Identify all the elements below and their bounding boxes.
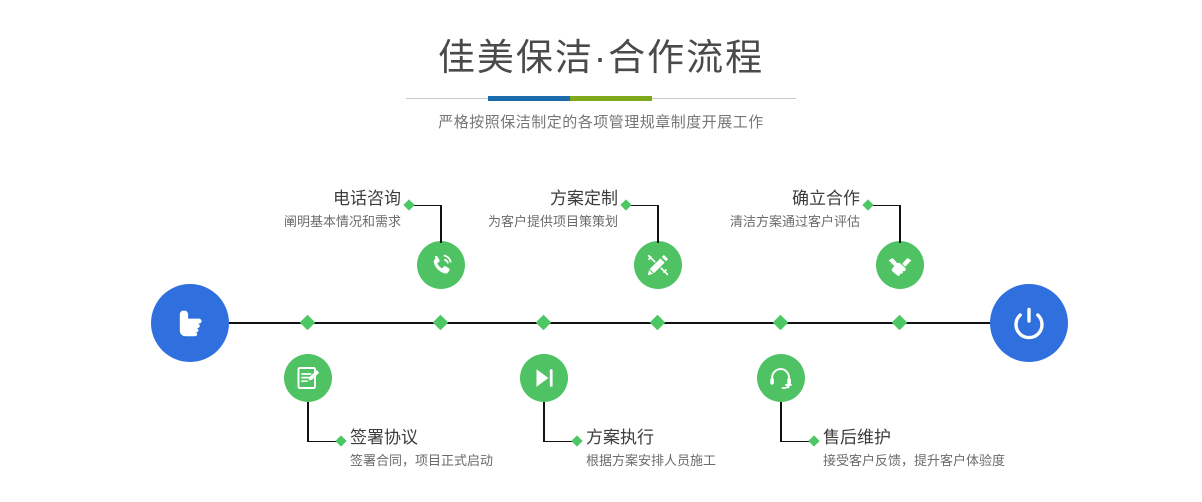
phone-call-icon	[427, 251, 455, 279]
step-label-bottom-1: 签署协议 签署合同，项目正式启动	[350, 427, 610, 470]
connector-vline-bottom-3	[780, 402, 782, 442]
connector-hline-bottom-2	[543, 441, 575, 442]
connector-vline-top-3	[899, 205, 901, 243]
connector-diamond-top-3	[862, 199, 873, 210]
pointing-hand-icon	[169, 302, 211, 344]
page-title: 佳美保洁·合作流程	[0, 36, 1202, 80]
connector-hline-top-3	[871, 205, 900, 206]
timeline-start-node	[151, 284, 229, 362]
step-label-bottom-2: 方案执行 根据方案安排人员施工	[586, 427, 846, 470]
step-label-top-2: 方案定制 为客户提供项目策策划	[422, 188, 618, 231]
play-next-icon	[530, 364, 558, 392]
step-desc: 阐明基本情况和需求	[205, 212, 401, 231]
step-title: 签署协议	[350, 427, 610, 449]
step-icon-headset-add	[757, 354, 805, 402]
divider-segment-green	[570, 96, 652, 101]
connector-vline-bottom-2	[543, 402, 545, 442]
connector-vline-top-2	[657, 205, 659, 243]
step-title: 方案定制	[422, 188, 618, 210]
step-desc: 为客户提供项目策策划	[422, 212, 618, 231]
step-desc: 签署合同，项目正式启动	[350, 451, 610, 470]
title-divider	[406, 98, 796, 99]
axis-diamond-bottom-3	[773, 315, 789, 331]
axis-diamond-top-2	[650, 315, 666, 331]
step-label-top-1: 电话咨询 阐明基本情况和需求	[205, 188, 401, 231]
step-desc: 接受客户反馈，提升客户体验度	[823, 451, 1123, 470]
step-icon-document-sign	[284, 354, 332, 402]
power-icon	[1007, 301, 1051, 345]
step-title: 售后维护	[823, 427, 1123, 449]
page-header: 佳美保洁·合作流程 严格按照保洁制定的各项管理规章制度开展工作	[0, 0, 1202, 133]
flow-diagram-page: 佳美保洁·合作流程 严格按照保洁制定的各项管理规章制度开展工作	[0, 0, 1202, 502]
step-icon-handshake	[876, 241, 924, 289]
connector-diamond-top-1	[403, 199, 414, 210]
connector-hline-bottom-1	[307, 441, 339, 442]
connector-diamond-bottom-1	[335, 435, 346, 446]
step-icon-play-next	[520, 354, 568, 402]
step-title: 电话咨询	[205, 188, 401, 210]
step-label-top-3: 确立合作 清洁方案通过客户评估	[664, 188, 860, 231]
step-title: 确立合作	[664, 188, 860, 210]
connector-hline-bottom-3	[780, 441, 812, 442]
step-desc: 清洁方案通过客户评估	[664, 212, 860, 231]
document-sign-icon	[294, 364, 322, 392]
step-icon-phone-call	[417, 241, 465, 289]
timeline-end-node	[990, 284, 1068, 362]
axis-diamond-bottom-2	[536, 315, 552, 331]
connector-hline-top-2	[629, 205, 658, 206]
connector-vline-bottom-1	[307, 402, 309, 442]
pencil-ruler-icon	[644, 251, 672, 279]
step-label-bottom-3: 售后维护 接受客户反馈，提升客户体验度	[823, 427, 1123, 470]
axis-diamond-top-3	[892, 315, 908, 331]
axis-diamond-bottom-1	[300, 315, 316, 331]
divider-segment-blue	[488, 96, 570, 101]
axis-diamond-top-1	[433, 315, 449, 331]
step-desc: 根据方案安排人员施工	[586, 451, 846, 470]
headset-add-icon	[767, 364, 795, 392]
handshake-icon	[886, 251, 914, 279]
connector-diamond-top-2	[620, 199, 631, 210]
step-title: 方案执行	[586, 427, 846, 449]
step-icon-pencil-ruler	[634, 241, 682, 289]
page-subtitle: 严格按照保洁制定的各项管理规章制度开展工作	[0, 113, 1202, 133]
